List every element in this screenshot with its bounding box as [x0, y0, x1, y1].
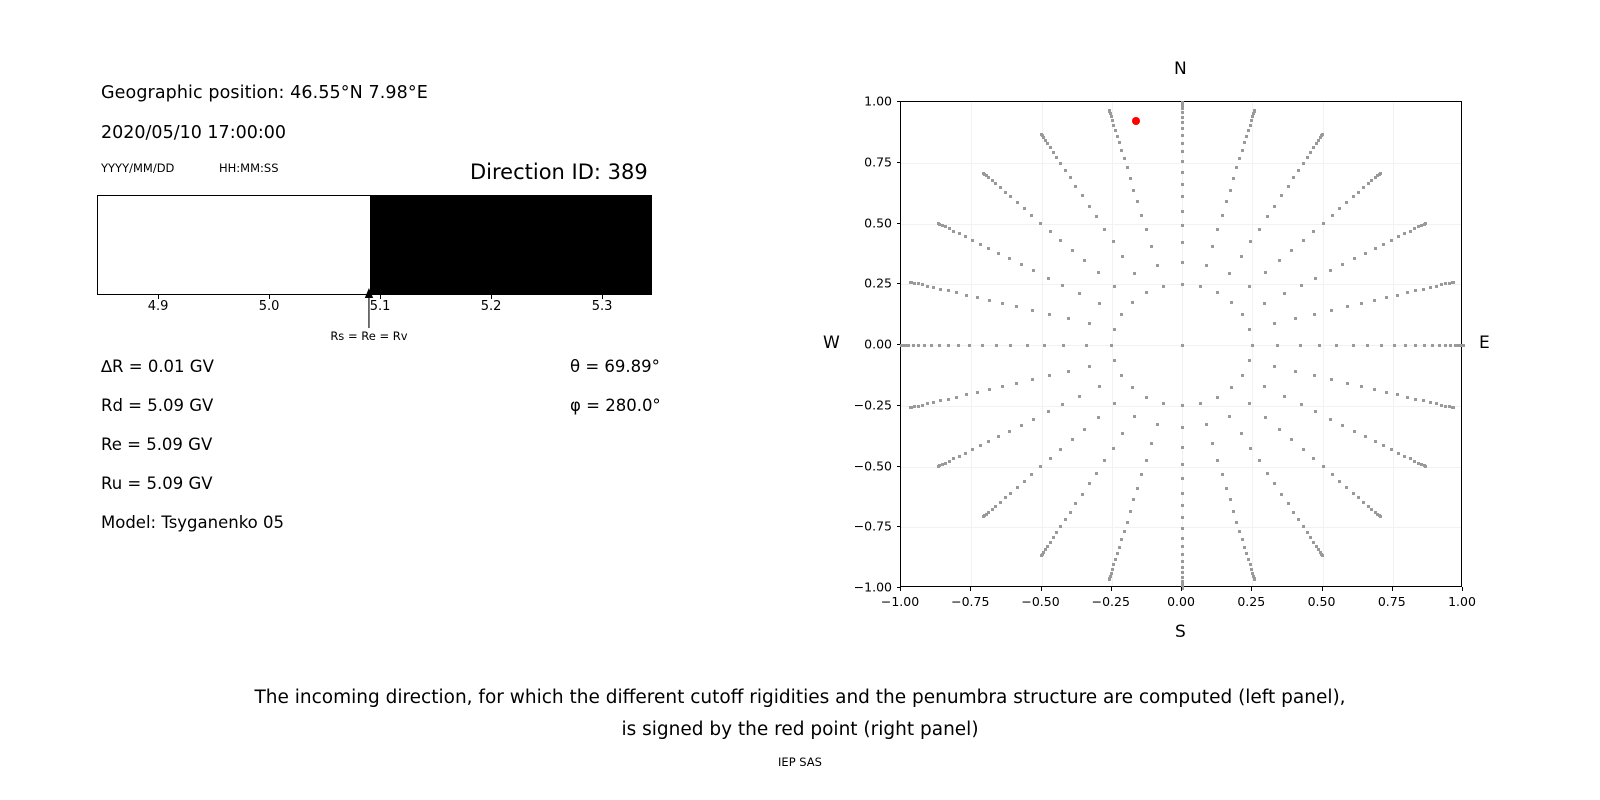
scatter-point — [1112, 447, 1115, 450]
footer-credit: IEP SAS — [0, 755, 1600, 769]
scatter-point — [1352, 344, 1355, 347]
scatter-point — [952, 230, 955, 233]
scatter-point — [1181, 283, 1184, 286]
scatter-point — [1370, 179, 1373, 182]
scatter-point — [1403, 455, 1406, 458]
scatter-point — [1360, 385, 1363, 388]
y-axis-tick-label: −1.00 — [848, 580, 892, 595]
scatter-point — [947, 398, 950, 401]
scatter-point — [1052, 536, 1055, 539]
scatter-point — [1290, 249, 1293, 252]
scatter-point — [1322, 465, 1325, 468]
scatter-point — [939, 399, 942, 402]
scatter-point — [1031, 378, 1034, 381]
x-axis-tick-label: 1.00 — [1448, 594, 1476, 609]
scatter-point — [1362, 501, 1365, 504]
scatter-point — [968, 344, 971, 347]
scatter-point — [1009, 492, 1012, 495]
y-axis-tick-label: 0.50 — [848, 215, 892, 230]
scatter-point — [1140, 214, 1143, 217]
scatter-point — [1322, 222, 1325, 225]
scatter-point — [932, 286, 935, 289]
scatter-point — [1064, 169, 1067, 172]
scatter-point — [1098, 385, 1101, 388]
scatter-point — [971, 239, 974, 242]
scatter-point — [1228, 272, 1231, 275]
y-axis-tick — [897, 466, 901, 467]
scatter-point — [1008, 430, 1011, 433]
scatter-point — [1312, 541, 1315, 544]
scatter-point — [1385, 391, 1388, 394]
scatter-point — [1444, 344, 1447, 347]
scatter-point — [964, 235, 967, 238]
scatter-point — [965, 393, 968, 396]
scatter-point — [1039, 465, 1042, 468]
scatter-point — [1136, 200, 1139, 203]
scatter-point — [1020, 424, 1023, 427]
scatter-point — [904, 344, 907, 347]
scatter-point — [1435, 402, 1438, 405]
scatter-point — [1229, 498, 1232, 501]
scatter-point — [1454, 344, 1457, 347]
scatter-point — [1287, 502, 1290, 505]
x-axis-tick-label: −1.00 — [881, 594, 919, 609]
scatter-point — [1390, 239, 1393, 242]
scatter-point — [923, 344, 926, 347]
scatter-point — [1329, 269, 1332, 272]
scatter-point — [1379, 515, 1382, 518]
scatter-point — [988, 299, 991, 302]
scatter-point — [1263, 385, 1266, 388]
y-axis-tick — [897, 101, 901, 102]
scatter-point — [1338, 207, 1341, 210]
scatter-point — [1181, 107, 1184, 110]
scatter-point — [1120, 538, 1123, 541]
x-axis-tick — [900, 587, 901, 591]
scatter-point — [913, 282, 916, 285]
scatter-point — [1085, 344, 1088, 347]
scatter-point — [1026, 344, 1029, 347]
scatter-point — [1133, 272, 1136, 275]
scatter-point — [1302, 525, 1305, 528]
scatter-point — [1362, 186, 1365, 189]
scatter-point — [1112, 240, 1115, 243]
scatter-point — [1015, 305, 1018, 308]
scatter-point — [1112, 563, 1115, 566]
scatter-point — [1110, 344, 1113, 347]
scatter-point — [1059, 525, 1062, 528]
scatter-point — [1032, 269, 1035, 272]
x-axis-tick-label: −0.75 — [951, 594, 989, 609]
scatter-point — [1023, 480, 1026, 483]
scatter-point — [958, 232, 961, 235]
scatter-point — [976, 296, 979, 299]
scatter-point — [1251, 344, 1254, 347]
scatter-point — [1095, 215, 1098, 218]
scatter-point — [1230, 301, 1233, 304]
scatter-point — [1424, 222, 1427, 225]
scatter-point — [1321, 554, 1324, 557]
scatter-point — [1429, 286, 1432, 289]
scatter-point — [1055, 531, 1058, 534]
scatter-point — [1181, 261, 1184, 264]
scatter-point — [1140, 473, 1143, 476]
scatter-point — [937, 465, 940, 468]
scatter-point — [1249, 563, 1252, 566]
scatter-point — [917, 282, 920, 285]
scatter-point — [1181, 537, 1184, 540]
x-axis-tick-label: 0.25 — [1237, 594, 1265, 609]
scatter-point — [1043, 344, 1046, 347]
scatter-point — [909, 281, 912, 284]
scatter-point — [1181, 121, 1184, 124]
scatter-point — [1245, 135, 1248, 138]
scatter-point — [1113, 328, 1116, 331]
scatter-point — [1071, 438, 1074, 441]
scatter-point — [1248, 328, 1251, 331]
y-axis-tick-label: −0.75 — [848, 519, 892, 534]
scatter-point — [1366, 344, 1369, 347]
scatter-point — [1031, 309, 1034, 312]
figure-caption: The incoming direction, for which the di… — [0, 682, 1600, 746]
scatter-point — [1067, 317, 1070, 320]
scatter-point — [926, 285, 929, 288]
compass-label-east: E — [1479, 333, 1490, 353]
scatter-point — [1431, 344, 1434, 347]
scatter-point — [1205, 264, 1208, 267]
scatter-point — [1312, 146, 1315, 149]
scatter-point — [1162, 285, 1165, 288]
scatter-point — [1088, 322, 1091, 325]
scatter-point — [982, 515, 985, 518]
scatter-point — [1312, 230, 1315, 233]
scatter-point — [926, 402, 929, 405]
scatter-point — [913, 405, 916, 408]
scatter-point — [1120, 313, 1123, 316]
scatter-point — [1241, 313, 1244, 316]
scatter-point — [1240, 432, 1243, 435]
scatter-point — [1181, 545, 1184, 548]
scatter-point — [1374, 440, 1377, 443]
scatter-point — [976, 391, 979, 394]
scatter-point — [1181, 477, 1184, 480]
scatter-point — [944, 462, 947, 465]
scatter-point — [948, 460, 951, 463]
scatter-point — [958, 455, 961, 458]
scatter-point — [1229, 189, 1232, 192]
scatter-point — [1313, 313, 1316, 316]
y-axis-tick — [897, 162, 901, 163]
scatter-point — [1039, 222, 1042, 225]
scatter-point — [1314, 277, 1317, 280]
scatter-point — [1181, 463, 1184, 466]
scatter-point — [1123, 157, 1126, 160]
scatter-point — [1382, 243, 1385, 246]
scatter-point — [1181, 241, 1184, 244]
scatter-point — [1145, 228, 1148, 231]
scatter-point — [1181, 183, 1184, 186]
y-axis-tick — [897, 223, 901, 224]
scatter-point — [1181, 210, 1184, 213]
scatter-point — [1297, 169, 1300, 172]
scatter-point — [1095, 472, 1098, 475]
x-axis-tick-label: −0.50 — [1021, 594, 1059, 609]
scatter-point — [1181, 404, 1184, 407]
scatter-point — [1069, 176, 1072, 179]
scatter-point — [1360, 302, 1363, 305]
scatter-point — [1247, 129, 1250, 132]
scatter-point — [1309, 151, 1312, 154]
scatter-point — [1266, 215, 1269, 218]
scatter-point — [1205, 423, 1208, 426]
x-axis-tick — [1322, 587, 1323, 591]
scatter-point — [947, 289, 950, 292]
scatter-point — [1273, 322, 1276, 325]
scatter-point — [1248, 402, 1251, 405]
scatter-point — [1253, 109, 1256, 112]
y-axis-tick — [897, 526, 901, 527]
scatter-point — [1052, 151, 1055, 154]
scatter-point — [932, 401, 935, 404]
scatter-point — [1317, 139, 1320, 142]
scatter-point — [1462, 344, 1465, 347]
scatter-point — [1004, 191, 1007, 194]
scatter-point — [1306, 156, 1309, 159]
x-axis-tick-label: −0.25 — [1092, 594, 1130, 609]
scatter-point — [1440, 404, 1443, 407]
scatter-point — [1181, 553, 1184, 556]
scatter-point — [1078, 292, 1081, 295]
scatter-point — [1015, 382, 1018, 385]
scatter-point — [1211, 245, 1214, 248]
scatter-point — [1397, 235, 1400, 238]
scatter-point — [1067, 370, 1070, 373]
scatter-point — [1097, 271, 1100, 274]
scatter-point — [987, 440, 990, 443]
scatter-point — [1047, 277, 1050, 280]
scatter-point — [1181, 224, 1184, 227]
scatter-point — [1097, 416, 1100, 419]
scatter-point — [1181, 516, 1184, 519]
caption-line-2: is signed by the red point (right panel) — [0, 714, 1600, 746]
y-axis-tick — [897, 587, 901, 588]
scatter-point — [1114, 558, 1117, 561]
scatter-point — [1283, 395, 1286, 398]
scatter-point — [1216, 396, 1219, 399]
scatter-point — [1302, 162, 1305, 165]
scatter-point — [1055, 156, 1058, 159]
scatter-point — [1112, 124, 1115, 127]
scatter-point — [1136, 487, 1139, 490]
scatter-point — [1126, 521, 1129, 524]
scatter-point — [1240, 255, 1243, 258]
scatter-point — [1449, 344, 1452, 347]
scatter-point — [1404, 344, 1407, 347]
scatter-point — [1329, 418, 1332, 421]
scatter-point — [1258, 228, 1261, 231]
scatter-point — [1118, 546, 1121, 549]
scatter-point — [1123, 530, 1126, 533]
selected-direction-marker[interactable] — [1132, 117, 1140, 125]
scatter-point — [1216, 291, 1219, 294]
scatter-point — [1049, 146, 1052, 149]
scatter-point — [1199, 285, 1202, 288]
x-axis-tick-label: 0.00 — [1167, 594, 1195, 609]
scatter-point — [1413, 227, 1416, 230]
scatter-point — [1243, 546, 1246, 549]
scatter-point — [1409, 230, 1412, 233]
scatter-point — [1108, 578, 1111, 581]
scatter-point — [1292, 511, 1295, 514]
scatter-point — [1273, 365, 1276, 368]
scatter-point — [1263, 302, 1266, 305]
x-axis-tick — [1251, 587, 1252, 591]
scatter-point — [1009, 344, 1012, 347]
scatter-point — [1424, 465, 1427, 468]
scatter-point — [1216, 459, 1219, 462]
scatter-point — [1181, 142, 1184, 145]
gridline-vertical — [1323, 102, 1324, 586]
scatter-point — [1181, 116, 1184, 119]
scatter-point — [1047, 410, 1050, 413]
scatter-point — [1247, 558, 1250, 561]
scatter-point — [1238, 530, 1241, 533]
scatter-point — [930, 344, 933, 347]
scatter-point — [1131, 386, 1134, 389]
x-axis-tick — [1462, 587, 1463, 591]
scatter-point — [1181, 504, 1184, 507]
scatter-point — [1406, 291, 1409, 294]
scatter-point — [1345, 486, 1348, 489]
figure-canvas: Geographic position: 46.55°N 7.98°E 2020… — [0, 0, 1600, 800]
scatter-point — [1341, 424, 1344, 427]
scatter-point — [1309, 536, 1312, 539]
scatter-point — [1409, 457, 1412, 460]
scatter-point — [1379, 172, 1382, 175]
y-axis-tick-label: 0.00 — [848, 337, 892, 352]
scatter-point — [1132, 498, 1135, 501]
scatter-point — [1331, 473, 1334, 476]
scatter-point — [1390, 448, 1393, 451]
scatter-point — [1181, 571, 1184, 574]
scatter-point — [1181, 527, 1184, 530]
scatter-point — [1253, 578, 1256, 581]
scatter-point — [1162, 402, 1165, 405]
scatter-point — [1241, 538, 1244, 541]
scatter-point — [1032, 418, 1035, 421]
scatter-point — [909, 406, 912, 409]
scatter-point — [1225, 487, 1228, 490]
scatter-point — [921, 404, 924, 407]
scatter-point — [1181, 160, 1184, 163]
scatter-point — [1346, 382, 1349, 385]
scatter-point — [994, 182, 997, 185]
scatter-point — [907, 344, 910, 347]
scatter-point — [1331, 214, 1334, 217]
scatter-point — [917, 405, 920, 408]
x-axis-tick — [1041, 587, 1042, 591]
scatter-point — [1302, 448, 1305, 451]
y-axis-tick — [897, 405, 901, 406]
scatter-point — [1001, 302, 1004, 305]
scatter-point — [1081, 194, 1084, 197]
scatter-point — [1088, 365, 1091, 368]
scatter-point — [1016, 201, 1019, 204]
scatter-point — [1132, 189, 1135, 192]
scatter-point — [1273, 205, 1276, 208]
scatter-point — [1116, 135, 1119, 138]
scatter-point — [999, 186, 1002, 189]
scatter-point — [1249, 447, 1252, 450]
scatter-point — [1113, 359, 1116, 362]
scatter-point — [1243, 141, 1246, 144]
scatter-point — [1312, 457, 1315, 460]
scatter-point — [979, 444, 982, 447]
scatter-point — [1181, 171, 1184, 174]
scatter-point — [1382, 444, 1385, 447]
scatter-point — [1048, 374, 1051, 377]
scatter-point — [1156, 264, 1159, 267]
scatter-point — [1300, 403, 1303, 406]
scatter-point — [1250, 119, 1253, 122]
scatter-point — [1040, 554, 1043, 557]
scatter-point — [1352, 492, 1355, 495]
scatter-point — [1009, 195, 1012, 198]
scatter-point — [1321, 133, 1324, 136]
scatter-point — [1357, 496, 1360, 499]
scatter-point — [1249, 240, 1252, 243]
scatter-point — [991, 508, 994, 511]
scatter-point — [1353, 430, 1356, 433]
scatter-point — [1113, 402, 1116, 405]
scatter-point — [1290, 438, 1293, 441]
scatter-point — [1049, 541, 1052, 544]
scatter-point — [1341, 263, 1344, 266]
scatter-point — [1397, 452, 1400, 455]
scatter-point — [1230, 386, 1233, 389]
scatter-point — [1248, 359, 1251, 362]
scatter-point — [1020, 263, 1023, 266]
scatter-point — [1373, 388, 1376, 391]
scatter-point — [1245, 552, 1248, 555]
scatter-point — [937, 222, 940, 225]
scatter-point — [1250, 568, 1253, 571]
compass-label-south: S — [1175, 622, 1186, 642]
scatter-point — [1145, 396, 1148, 399]
scatter-point — [1280, 493, 1283, 496]
scatter-point — [981, 344, 984, 347]
scatter-point — [1061, 284, 1064, 287]
scatter-point — [1292, 176, 1295, 179]
scatter-point — [1078, 395, 1081, 398]
scatter-point — [1438, 344, 1441, 347]
y-axis-tick-label: −0.25 — [848, 397, 892, 412]
scatter-point — [1299, 344, 1302, 347]
scatter-point — [965, 294, 968, 297]
scatter-point — [1004, 496, 1007, 499]
scatter-point — [991, 179, 994, 182]
scatter-point — [1049, 457, 1052, 460]
scatter-point — [1278, 259, 1281, 262]
scatter-point — [1374, 247, 1377, 250]
scatter-point — [1335, 344, 1338, 347]
scatter-point — [1216, 228, 1219, 231]
scatter-point — [1113, 285, 1116, 288]
scatter-point — [1074, 185, 1077, 188]
scatter-point — [1016, 486, 1019, 489]
scatter-point — [1385, 296, 1388, 299]
scatter-point — [1396, 393, 1399, 396]
